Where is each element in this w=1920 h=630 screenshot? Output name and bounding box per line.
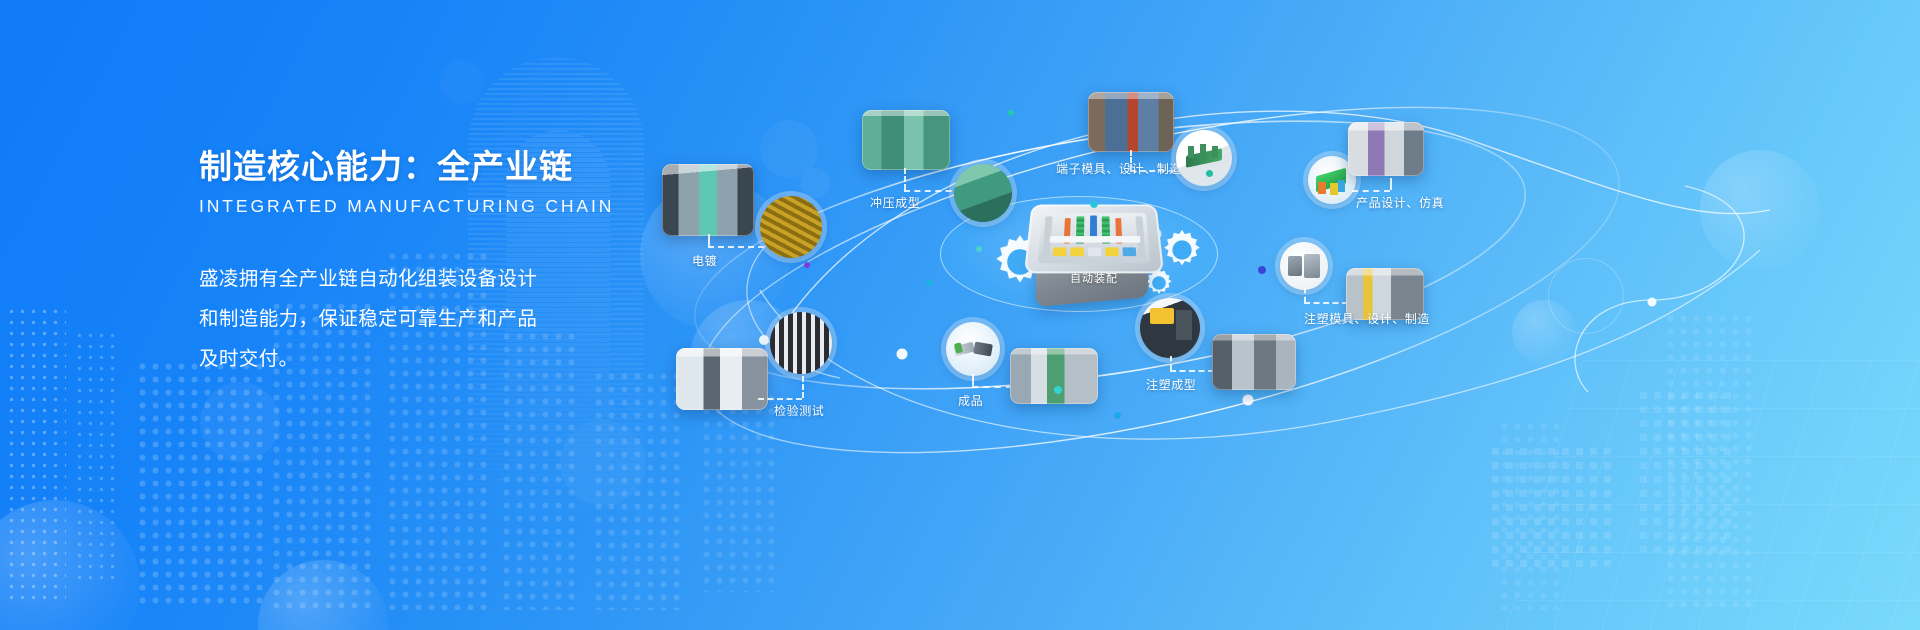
bokeh-circle-4 xyxy=(560,420,646,506)
particle-1 xyxy=(1008,110,1014,116)
particle-7 xyxy=(1054,386,1062,394)
connector-finished-goods-h xyxy=(972,386,1012,388)
manufacturing-chain-banner: 制造核心能力：全产业链 INTEGRATED MANUFACTURING CHA… xyxy=(0,0,1920,630)
label-finished-goods: 成品 xyxy=(958,392,983,409)
connector-product-design-v xyxy=(1390,178,1392,190)
connector-electroplating-v xyxy=(708,234,710,246)
connector-inspection-v xyxy=(802,376,804,398)
page-subtitle: INTEGRATED MANUFACTURING CHAIN xyxy=(199,196,569,217)
particle-6 xyxy=(976,246,982,252)
particle-2 xyxy=(1206,170,1213,177)
connector-electroplating-h xyxy=(708,246,774,248)
particle-5 xyxy=(1258,266,1266,274)
connector-injection-mold-h xyxy=(1304,302,1348,304)
label-injection-molding: 注塑成型 xyxy=(1146,376,1196,393)
photo-electroplating[interactable] xyxy=(662,164,754,236)
photo-injection-molding[interactable] xyxy=(1212,334,1296,390)
orbit-rings xyxy=(640,0,1920,630)
photo-product-design[interactable] xyxy=(1348,122,1424,176)
node-electroplating-icon[interactable] xyxy=(760,196,822,258)
copy-block: 制造核心能力：全产业链 INTEGRATED MANUFACTURING CHA… xyxy=(199,146,569,379)
label-electroplating: 电镀 xyxy=(692,252,717,269)
page-description: 盛凌拥有全产业链自动化组装设备设计和制造能力，保证稳定可靠生产和产品及时交付。 xyxy=(199,259,551,379)
dot-matrix-left xyxy=(6,306,66,606)
label-inspection: 检验测试 xyxy=(774,402,824,419)
node-inspection-icon[interactable] xyxy=(770,312,832,374)
particle-8 xyxy=(1114,412,1121,419)
node-injection-molding-icon[interactable] xyxy=(1140,298,1200,358)
label-injection-mold: 注塑模具、设计、制造 xyxy=(1304,310,1430,327)
connector-injection-mold-v xyxy=(1304,288,1306,302)
connector-injection-molding-v xyxy=(1170,356,1172,370)
automatic-assembly-cube: 自动装配 xyxy=(1028,200,1160,310)
square-matrix-a xyxy=(136,360,266,610)
node-injection-mold-icon[interactable] xyxy=(1280,242,1328,290)
photo-finished-goods[interactable] xyxy=(1010,348,1098,404)
page-title: 制造核心能力：全产业链 xyxy=(199,146,569,188)
connector-inspection-h xyxy=(758,398,802,400)
dot-matrix-left-2 xyxy=(74,330,120,580)
node-terminal-mold-icon[interactable] xyxy=(1176,130,1232,186)
label-terminal-mold: 端子模具、设计、制造 xyxy=(1056,160,1182,177)
bokeh-circle-1 xyxy=(0,500,140,630)
center-node-label: 自动装配 xyxy=(1028,270,1160,286)
bokeh-circle-10 xyxy=(440,60,484,104)
node-finished-goods-icon[interactable] xyxy=(946,322,1000,376)
label-product-design: 产品设计、仿真 xyxy=(1356,194,1444,211)
bokeh-circle-3 xyxy=(258,560,388,630)
photo-terminal-mold[interactable] xyxy=(1088,92,1174,152)
cube-indicator-dot xyxy=(1090,201,1098,208)
photo-stamping[interactable] xyxy=(862,110,950,170)
particle-3 xyxy=(926,280,932,286)
bokeh-circle-2 xyxy=(200,382,280,462)
particle-4 xyxy=(804,262,810,268)
connector-product-design-h xyxy=(1352,190,1390,192)
label-stamping: 冲压成型 xyxy=(870,194,920,211)
connector-finished-goods-v xyxy=(972,374,974,386)
manufacturing-chain-diagram: 自动装配 电镀 冲压成型 端子模具、设计、制造 xyxy=(640,0,1920,630)
node-stamping-icon[interactable] xyxy=(954,164,1012,222)
connector-injection-molding-h xyxy=(1170,370,1214,372)
connector-stamping-v xyxy=(904,168,906,190)
photo-inspection[interactable] xyxy=(676,348,768,410)
mold-interior xyxy=(1038,213,1151,263)
cube-top xyxy=(1024,205,1164,274)
